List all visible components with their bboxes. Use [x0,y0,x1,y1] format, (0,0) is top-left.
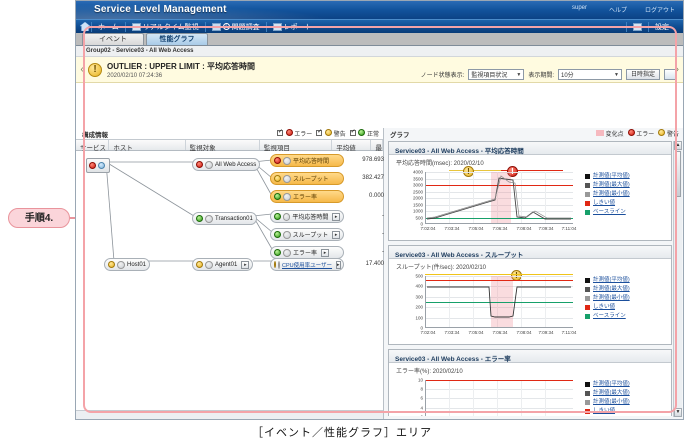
warning-dot-icon [274,175,281,182]
content-area: Group02 - Service03 - All Web Access ‹ !… [76,46,683,419]
notification-badge: ! [223,23,230,30]
plot-area-error-rate: 10 8 6 4 2 [425,380,573,416]
expand-icon[interactable]: ▸ [241,261,249,269]
main-menu-bar: ホーム リアルタイム監視 ! 問題調査 レポート 設定 [76,19,683,33]
y-tick-label: 300 [415,294,423,299]
tools-icon [633,23,642,31]
x-tick-label: 7:06:34 [492,226,507,231]
node-state-label: ノード状態表示: [421,70,465,79]
menu-item-label: リアルタイム監視 [143,22,199,32]
graph-pane: グラフ 変化点 エラー 警告 [384,128,683,419]
threshold-line [425,380,573,381]
legend-label: 計測値(平均値) [593,172,630,181]
expand-icon[interactable]: ▸ [321,249,329,257]
x-tick-label: 7:05:04 [468,330,483,335]
y-tick-label: 500 [415,274,423,279]
tree-item-value-3: - [348,213,384,219]
period-value: 10分 [561,70,574,79]
error-dot-icon [286,129,293,136]
metric-icon [283,175,291,183]
home-icon[interactable] [78,20,91,33]
warning-dot-icon [108,261,115,268]
tab-performance-graph[interactable]: 性能グラフ [146,33,208,45]
filter-warning-label: 警告 [334,132,346,138]
tree-node-label: Transaction01 [215,216,253,222]
tree-item-label: エラー率 [293,192,317,201]
graph-card-list: Service03 - All Web Access - 平均応答時間 平均応答… [388,141,672,416]
configuration-pane-title: 構成情報 [82,132,108,139]
series-legend: 計測値(平均値) 計測値(最大値) 計測値(最小値) しきい値 ベースライン [585,172,665,217]
menu-item-settings[interactable] [627,20,648,34]
legend-label: ベースライン [593,312,626,321]
calendar-icon[interactable] [664,69,677,80]
checkbox-ok[interactable] [350,130,356,136]
warning-dot-icon [325,129,332,136]
menu-item-label: レポート [284,22,312,32]
figure-caption: ［イベント／性能グラフ］エリア [0,424,684,440]
horizontal-scrollbar[interactable] [76,410,383,419]
filter-ok[interactable]: 正常 [350,129,379,138]
legend-label: しきい値 [593,303,615,312]
tree-node-target-agent01[interactable]: Agent01 ▸ [192,258,253,271]
tree-item-6[interactable]: CPU使用率ユーザー ▸ [270,258,344,271]
prev-event-arrow[interactable]: ‹ [76,64,88,75]
legend-error-label: エラー [636,132,654,138]
y-tick-label: 2000 [413,196,423,201]
tree-item-value-6: 17.400 [348,261,384,267]
x-tick-label: 7:02:04 [420,226,435,231]
legend-warning-label: 警告 [667,132,679,138]
warning-icon: ! [88,63,102,77]
x-tick-label: 7:02:04 [420,330,435,335]
menu-item-home[interactable]: ホーム [92,20,125,34]
ok-dot-icon [274,213,281,220]
tree-item-label: エラー率 [293,248,317,257]
scroll-thumb[interactable] [675,151,681,197]
expand-icon[interactable]: ▸ [332,231,340,239]
expand-icon[interactable]: ▸ [332,213,340,221]
tree-item-value-1: 382.427 [348,175,384,181]
monitor-icon [132,23,141,31]
legend-entry-baseline[interactable]: ベースライン [585,208,665,217]
legend-label: 計測値(最大値) [593,285,630,294]
menu-item-label: 問題調査 [232,22,260,32]
legend-change-label: 変化点 [606,132,624,138]
legend-entry-max[interactable]: 計測値(最大値) [585,285,665,294]
series-legend: 計測値(平均値) 計測値(最大値) 計測値(最小値) しきい値 ベースライン [585,276,665,321]
period-label: 表示期間: [528,70,554,79]
y-tick-label: 1500 [413,202,423,207]
node-state-value: 監視項目状況 [471,70,507,79]
legend-entry-avg[interactable]: 計測値(平均値) [585,172,665,181]
ok-dot-icon [358,129,365,136]
menu-settings-label: 設定 [655,22,669,32]
legend-entry-min[interactable]: 計測値(最小値) [585,398,665,407]
legend-entry-avg[interactable]: 計測値(平均値) [585,276,665,285]
tree-item-label: スループット [293,174,329,183]
x-tick-label: 7:03:34 [444,330,459,335]
x-tick-label: 7:06:34 [492,330,507,335]
y-tick-label: 8 [420,387,423,392]
status-filter-legend: エラー 警告 正常 [277,129,379,138]
period-select[interactable]: 10分 ▼ [558,69,622,80]
ok-dot-icon [196,215,203,222]
tree-node-target-transaction01[interactable]: Transaction01 [192,212,257,225]
y-tick-label: 400 [415,284,423,289]
warning-dot-icon [196,261,203,268]
tree-node-label: All Web Access [215,162,256,168]
x-tick-label: 7:08:04 [516,226,531,231]
configuration-pane-header: 構成情報 エラー 警告 [76,128,383,139]
graph-card-response-time[interactable]: Service03 - All Web Access - 平均応答時間 平均応答… [388,141,672,241]
legend-warning: 警告 [658,129,679,138]
graph-card-title: Service03 - All Web Access - スループット [389,246,671,259]
transaction-icon [205,215,213,223]
legend-entry-max[interactable]: 計測値(最大値) [585,389,665,398]
datetime-button[interactable]: 日時指定 [626,69,660,80]
tab-bar: イベント 性能グラフ [76,33,683,46]
tree-item-label[interactable]: CPU使用率ユーザー [282,261,332,269]
graph-card-subtitle: エラー率(%): 2020/02/10 [389,363,671,375]
legend-entry-min[interactable]: 計測値(最小値) [585,294,665,303]
y-tick-label: 500 [415,215,423,220]
metric-icon [283,231,291,239]
error-dot-icon [196,161,203,168]
legend-label: 計測値(最小値) [593,398,630,407]
x-tick-label: 7:09:34 [538,226,553,231]
legend-entry-max[interactable]: 計測値(最大値) [585,181,665,190]
legend-entry-baseline[interactable]: ベースライン [585,312,665,321]
graph-card-subtitle: スループット(件/sec): 2020/02/10 [389,259,671,271]
graph-card-subtitle: 平均応答時間(msec): 2020/02/10 [389,155,671,167]
graph-pane-title: グラフ [390,132,410,139]
menu-item-label: ホーム [98,22,119,32]
graph-card-throughput[interactable]: Service03 - All Web Access - スループット スループ… [388,245,672,345]
menu-item-report[interactable]: レポート [267,20,318,34]
tree-node-target-all-web-access[interactable]: All Web Access [192,158,260,171]
filter-warning[interactable]: 警告 [316,129,345,138]
title-bar: Service Level Management super ヘルプ ログアウト [76,1,683,19]
legend-entry-threshold[interactable]: しきい値 [585,199,665,208]
error-dot-icon [628,129,635,136]
logout-link[interactable]: ログアウト [645,5,675,14]
configuration-pane: 構成情報 エラー 警告 [76,128,384,419]
warning-dot-icon [658,129,665,136]
y-tick-label: 1000 [413,209,423,214]
legend-change-point: 変化点 [596,129,624,138]
alert-timestamp: 2020/02/10 07:24:36 [107,73,255,79]
graph-vertical-scrollbar[interactable]: ▲ ▼ [673,141,682,417]
application-window: Service Level Management super ヘルプ ログアウト… [75,0,684,420]
y-tick-label: 4 [420,405,423,410]
x-tick-label: 7:03:34 [444,226,459,231]
legend-label: 計測値(最大値) [593,389,630,398]
series-lines [425,276,573,328]
legend-label: しきい値 [593,199,615,208]
warning-level-line [425,274,573,275]
filter-error-label: エラー [294,132,312,138]
scroll-up-arrow[interactable]: ▲ [674,141,682,150]
app-title: Service Level Management [94,4,227,15]
agent-icon [205,261,213,269]
y-tick-label: 2500 [413,189,423,194]
ok-dot-icon [274,193,281,200]
step-callout: 手順4. [8,208,70,228]
tree-item-0[interactable]: 平均応答時間 [270,154,344,167]
checkbox-warning[interactable] [316,130,322,136]
legend-entry-min[interactable]: 計測値(最小値) [585,190,665,199]
topology-tree: Host01 All Web Access Transaction01 [76,152,384,412]
tree-item-value-0: 978.693 [348,157,384,163]
legend-label: 計測値(平均値) [593,276,630,285]
panes-container: 構成情報 エラー 警告 [76,128,683,419]
y-tick-label: 10 [418,378,423,383]
plot-area-response-time: 4000 3500 3000 2500 2000 1500 1000 500 0… [425,172,573,224]
host-icon [117,261,125,269]
service-icon [98,162,105,169]
tree-item-value-5: - [348,249,384,255]
chevron-down-icon: ▼ [614,72,619,78]
alert-banner: ‹ ! OUTLIER : UPPER LIMIT : 平均応答時間 2020/… [76,57,683,83]
legend-entry-threshold[interactable]: しきい値 [585,303,665,312]
alert-title: OUTLIER : UPPER LIMIT : 平均応答時間 [107,61,255,72]
checkbox-error[interactable] [277,130,283,136]
tree-item-3[interactable]: 平均応答時間 ▸ [270,210,344,223]
legend-label: 計測値(最小値) [593,294,630,303]
expand-icon[interactable]: ▸ [336,261,341,269]
legend-label: ベースライン [593,208,626,217]
metric-icon [283,249,291,257]
web-icon [205,161,213,169]
chevron-down-icon: ▼ [516,72,521,78]
y-tick-label: 3000 [413,183,423,188]
tree-item-label: 平均応答時間 [292,212,328,221]
filter-ok-label: 正常 [367,132,379,138]
warning-dot-icon [274,261,276,268]
legend-label: 計測値(最小値) [593,190,630,199]
x-tick-label: 7:08:04 [516,330,531,335]
legend-error: エラー [628,129,655,138]
filter-error[interactable]: エラー [277,129,312,138]
breadcrumb: Group02 - Service03 - All Web Access [76,46,683,57]
menu-item-problem-investigation[interactable]: ! 問題調査 [206,20,266,34]
tree-node-label: Agent01 [215,262,237,268]
tree-item-label: 平均応答時間 [293,156,329,165]
x-tick-label: 7:05:04 [468,226,483,231]
tree-item-value-4: - [348,231,384,237]
menu-item-realtime-monitoring[interactable]: リアルタイム監視 [126,20,205,34]
metric-icon [278,261,280,269]
tree-item-4[interactable]: スループット ▸ [270,228,344,241]
tab-event[interactable]: イベント [82,33,144,45]
graph-card-error-rate[interactable]: Service03 - All Web Access - エラー率 エラー率(%… [388,349,672,416]
tree-item-label: スループット [293,230,329,239]
tree-node-label: Host01 [127,262,146,268]
scroll-down-arrow[interactable]: ▼ [674,408,682,417]
plot-area-throughput: 500 400 300 200 100 0 7:02:04 7:03:34 7:… [425,276,573,328]
x-tick-label: 7:11:04 [562,226,577,231]
legend-label: 計測値(平均値) [593,380,630,389]
y-tick-label: 4000 [413,170,423,175]
node-state-select[interactable]: 監視項目状況 ▼ [468,69,524,80]
y-tick-label: 100 [415,315,423,320]
legend-label: しきい値 [593,407,615,416]
report-icon [273,23,282,31]
metric-icon [283,157,291,165]
graph-card-title: Service03 - All Web Access - 平均応答時間 [389,142,671,155]
tree-item-2[interactable]: エラー率 [270,190,344,203]
tree-item-value-2: 0.000 [348,193,384,199]
metric-icon [283,193,291,201]
x-tick-label: 7:11:04 [562,330,577,335]
help-link[interactable]: ヘルプ [609,5,627,14]
graph-legend: 変化点 エラー 警告 [596,129,679,138]
tree-node-service[interactable] [86,158,110,173]
legend-entry-threshold[interactable]: しきい値 [585,407,665,416]
graph-pane-header: グラフ 変化点 エラー 警告 [384,128,683,139]
y-tick-label: 3500 [413,176,423,181]
y-tick-label: 6 [420,396,423,401]
series-lines [425,172,573,224]
graph-card-title: Service03 - All Web Access - エラー率 [389,350,671,363]
filter-toolbar: ノード状態表示: 監視項目状況 ▼ 表示期間: 10分 ▼ 日時指定 [421,69,677,80]
y-tick-label: 2 [420,414,423,416]
menu-item-settings-label[interactable]: 設定 [649,20,683,34]
x-tick-label: 7:09:34 [538,330,553,335]
change-band-icon [596,130,604,136]
current-user: super [572,5,587,11]
tree-item-1[interactable]: スループット [270,172,344,185]
legend-entry-avg[interactable]: 計測値(平均値) [585,380,665,389]
ok-dot-icon [274,249,281,256]
tree-node-host[interactable]: Host01 [104,258,150,271]
metric-icon [283,213,291,221]
magnify-icon [212,23,221,31]
error-dot-icon [89,162,96,169]
error-dot-icon [274,157,281,164]
legend-label: 計測値(最大値) [593,181,630,190]
ok-dot-icon [274,231,281,238]
series-legend: 計測値(平均値) 計測値(最大値) 計測値(最小値) しきい値 ベースライン [585,380,665,416]
y-tick-label: 200 [415,305,423,310]
